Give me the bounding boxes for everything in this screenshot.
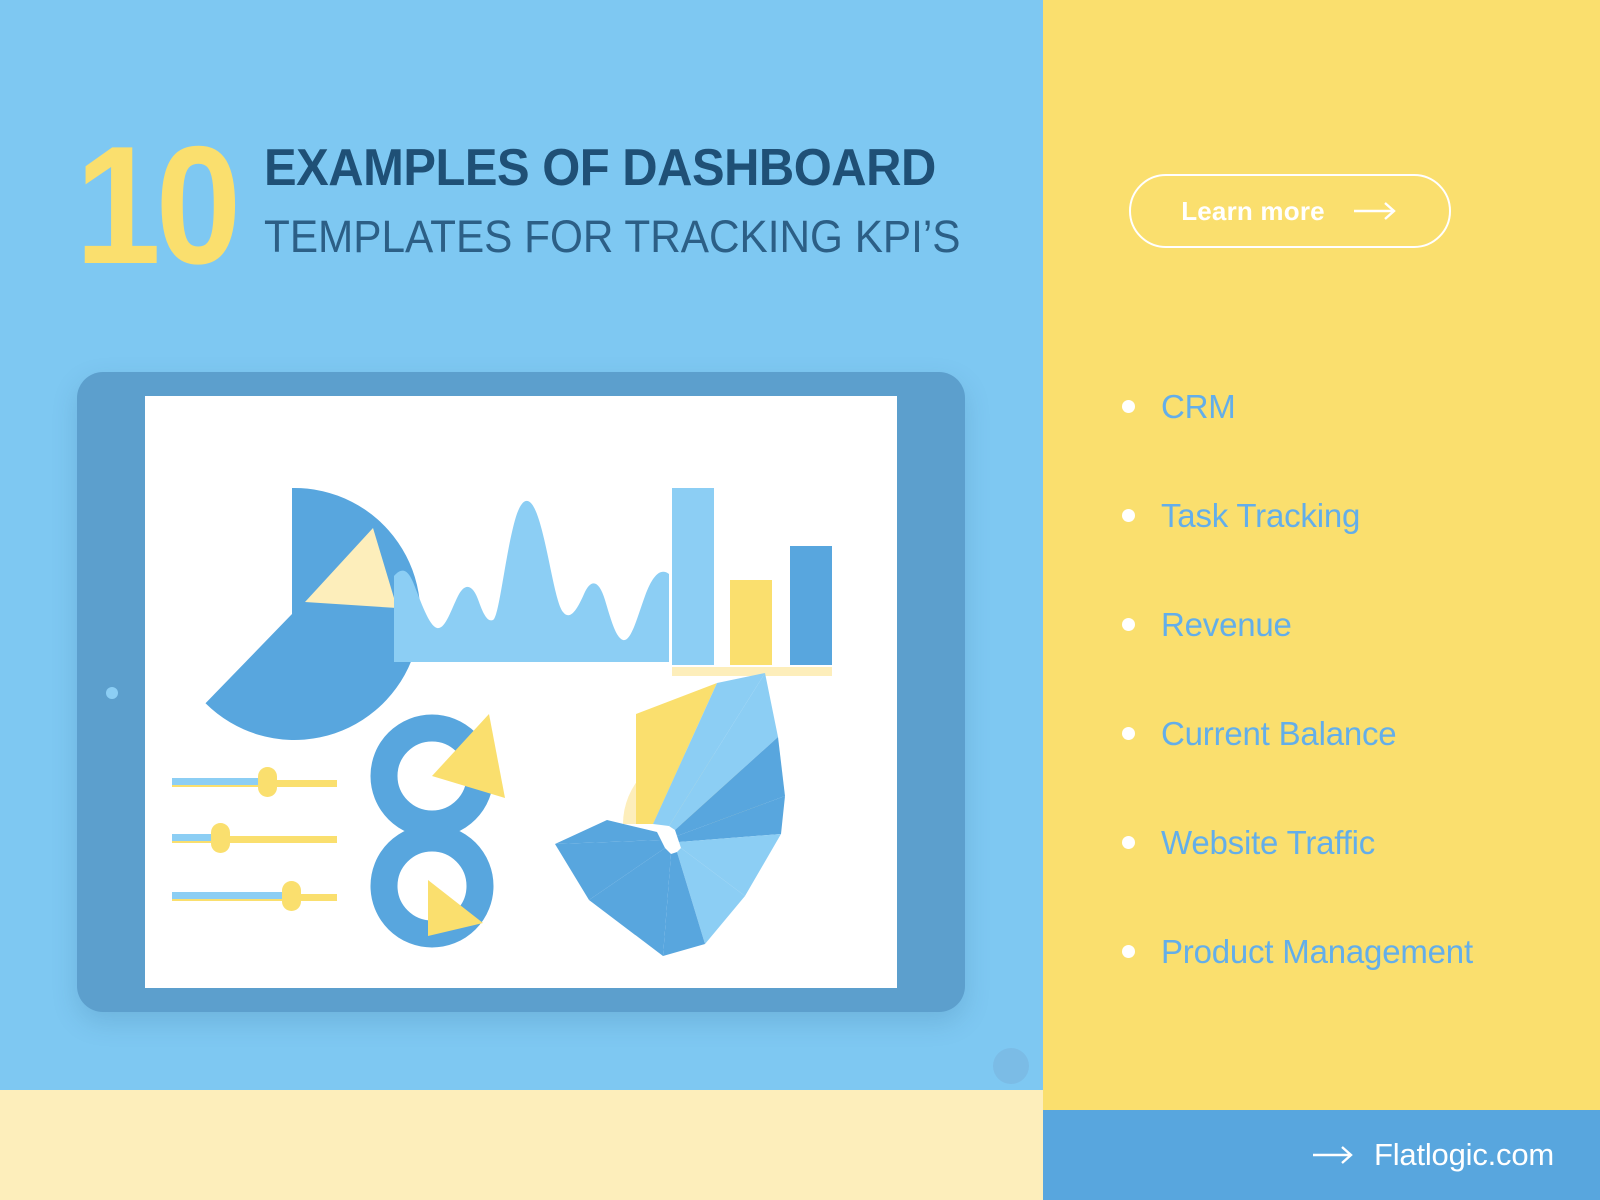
camera-dot-icon [106, 687, 118, 699]
list-item[interactable]: Website Traffic [1122, 788, 1592, 897]
bullet-dot-icon [1122, 509, 1135, 522]
home-button-icon [993, 1048, 1029, 1084]
headline-number: 10 [75, 128, 236, 283]
bullet-dot-icon [1122, 400, 1135, 413]
donut-chart-top [384, 714, 505, 824]
slider-row[interactable] [172, 881, 337, 911]
list-item-label: Website Traffic [1161, 824, 1375, 862]
list-item[interactable]: CRM [1122, 352, 1592, 461]
slider-row[interactable] [172, 767, 337, 797]
list-item[interactable]: Revenue [1122, 570, 1592, 679]
poster-canvas: 10 EXAMPLES OF DASHBOARD TEMPLATES FOR T… [0, 0, 1600, 1200]
bar-chart [672, 488, 832, 676]
slider-row[interactable] [172, 823, 337, 853]
arrow-right-icon [1312, 1145, 1356, 1165]
donut-chart-bottom [384, 838, 483, 936]
list-item[interactable]: Current Balance [1122, 679, 1592, 788]
brand-label: Flatlogic.com [1374, 1137, 1554, 1173]
brand-link[interactable]: Flatlogic.com [1043, 1110, 1600, 1200]
headline-line-2: TEMPLATES FOR TRACKING KPI’S [264, 212, 961, 262]
headline-text-group: EXAMPLES OF DASHBOARD TEMPLATES FOR TRAC… [264, 128, 1005, 263]
headline-line-1: EXAMPLES OF DASHBOARD [264, 140, 961, 196]
tablet-screen [145, 396, 897, 988]
headline-block: 10 EXAMPLES OF DASHBOARD TEMPLATES FOR T… [75, 128, 1005, 283]
pie-chart [206, 488, 421, 740]
bullet-dot-icon [1122, 945, 1135, 958]
bullet-dot-icon [1122, 618, 1135, 631]
list-item-label: Product Management [1161, 933, 1473, 971]
learn-more-label: Learn more [1181, 196, 1325, 227]
feature-list: CRM Task Tracking Revenue Current Balanc… [1122, 352, 1592, 1006]
learn-more-button[interactable]: Learn more [1129, 174, 1451, 248]
dashboard-illustration [145, 396, 897, 988]
list-item-label: Task Tracking [1161, 497, 1360, 535]
list-item-label: Current Balance [1161, 715, 1396, 753]
list-item-label: Revenue [1161, 606, 1292, 644]
slider-group [172, 767, 337, 911]
rose-chart [555, 673, 785, 956]
arrow-right-icon [1353, 201, 1399, 221]
tablet-mockup [77, 372, 965, 1012]
list-item[interactable]: Task Tracking [1122, 461, 1592, 570]
bullet-dot-icon [1122, 836, 1135, 849]
bullet-dot-icon [1122, 727, 1135, 740]
list-item-label: CRM [1161, 388, 1236, 426]
footer-left-band [0, 1090, 1043, 1200]
list-item[interactable]: Product Management [1122, 897, 1592, 1006]
area-chart [394, 501, 669, 662]
